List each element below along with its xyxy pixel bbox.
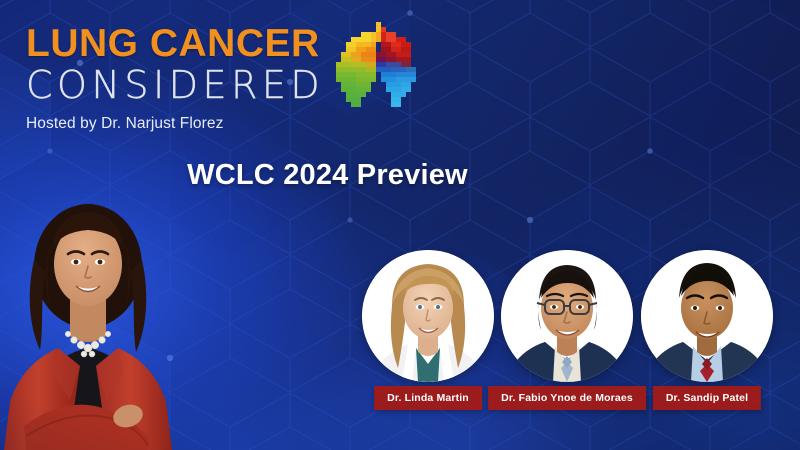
show-logo: LUNG CANCER CONSIDERED Hosted by Dr. Nar… bbox=[26, 24, 406, 133]
logo-host-line: Hosted by Dr. Narjust Florez bbox=[26, 115, 406, 133]
page-title-text: WCLC 2024 Preview bbox=[187, 159, 468, 192]
slide-canvas: LUNG CANCER CONSIDERED Hosted by Dr. Nar… bbox=[0, 0, 800, 450]
speaker-card-2[interactable]: Dr. Fabio Ynoe de Moraes bbox=[501, 250, 633, 382]
speaker-name-plate-3: Dr. Sandip Patel bbox=[653, 386, 761, 410]
speaker-avatar-3 bbox=[641, 250, 773, 382]
speaker-avatar-1 bbox=[362, 250, 494, 382]
host-portrait bbox=[0, 188, 180, 450]
speaker-list: Dr. Linda Martin bbox=[360, 250, 788, 420]
speaker-avatar-2 bbox=[501, 250, 633, 382]
pixelated-lungs-icon bbox=[331, 22, 426, 110]
speaker-name-plate-1: Dr. Linda Martin bbox=[374, 386, 482, 410]
speaker-card-1[interactable]: Dr. Linda Martin bbox=[362, 250, 494, 382]
speaker-name-plate-2: Dr. Fabio Ynoe de Moraes bbox=[488, 386, 646, 410]
speaker-card-3[interactable]: Dr. Sandip Patel bbox=[641, 250, 773, 382]
